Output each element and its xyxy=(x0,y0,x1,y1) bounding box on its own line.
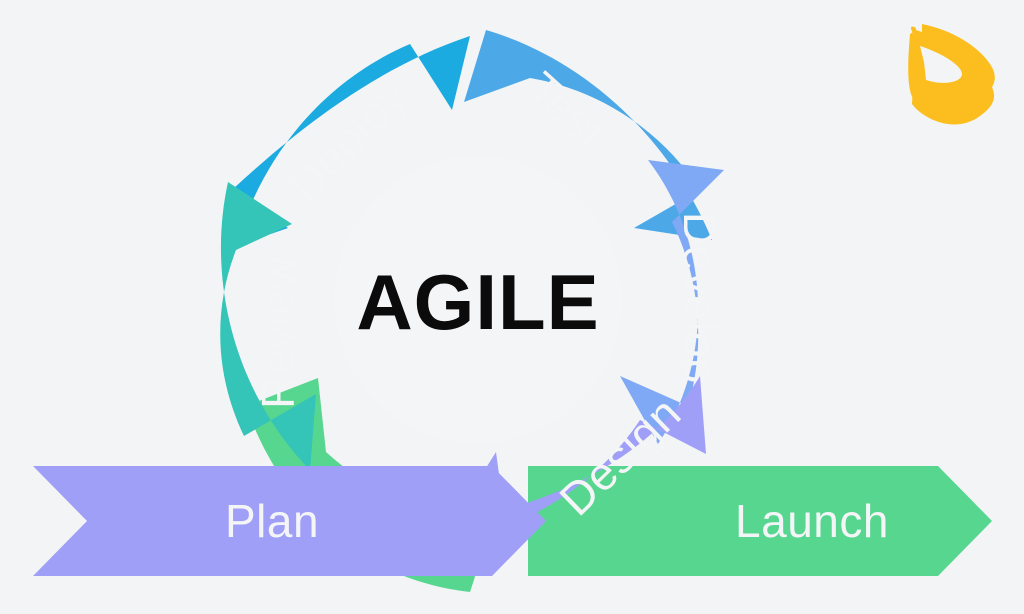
center-title: AGILE xyxy=(356,258,599,346)
segment-review-label: Review xyxy=(252,255,304,409)
diagram-canvas: Launch Deploy Test Develop Design xyxy=(0,0,1024,614)
agile-diagram: Launch Deploy Test Develop Design xyxy=(0,0,1024,614)
banner-plan[interactable]: Plan xyxy=(33,466,546,576)
segment-develop[interactable]: Develop xyxy=(620,160,726,444)
banner-plan-label: Plan xyxy=(225,495,319,547)
banner-launch-label: Launch xyxy=(735,495,889,547)
segment-develop-label: Develop xyxy=(674,212,726,384)
double-chevron-logo xyxy=(908,24,995,124)
